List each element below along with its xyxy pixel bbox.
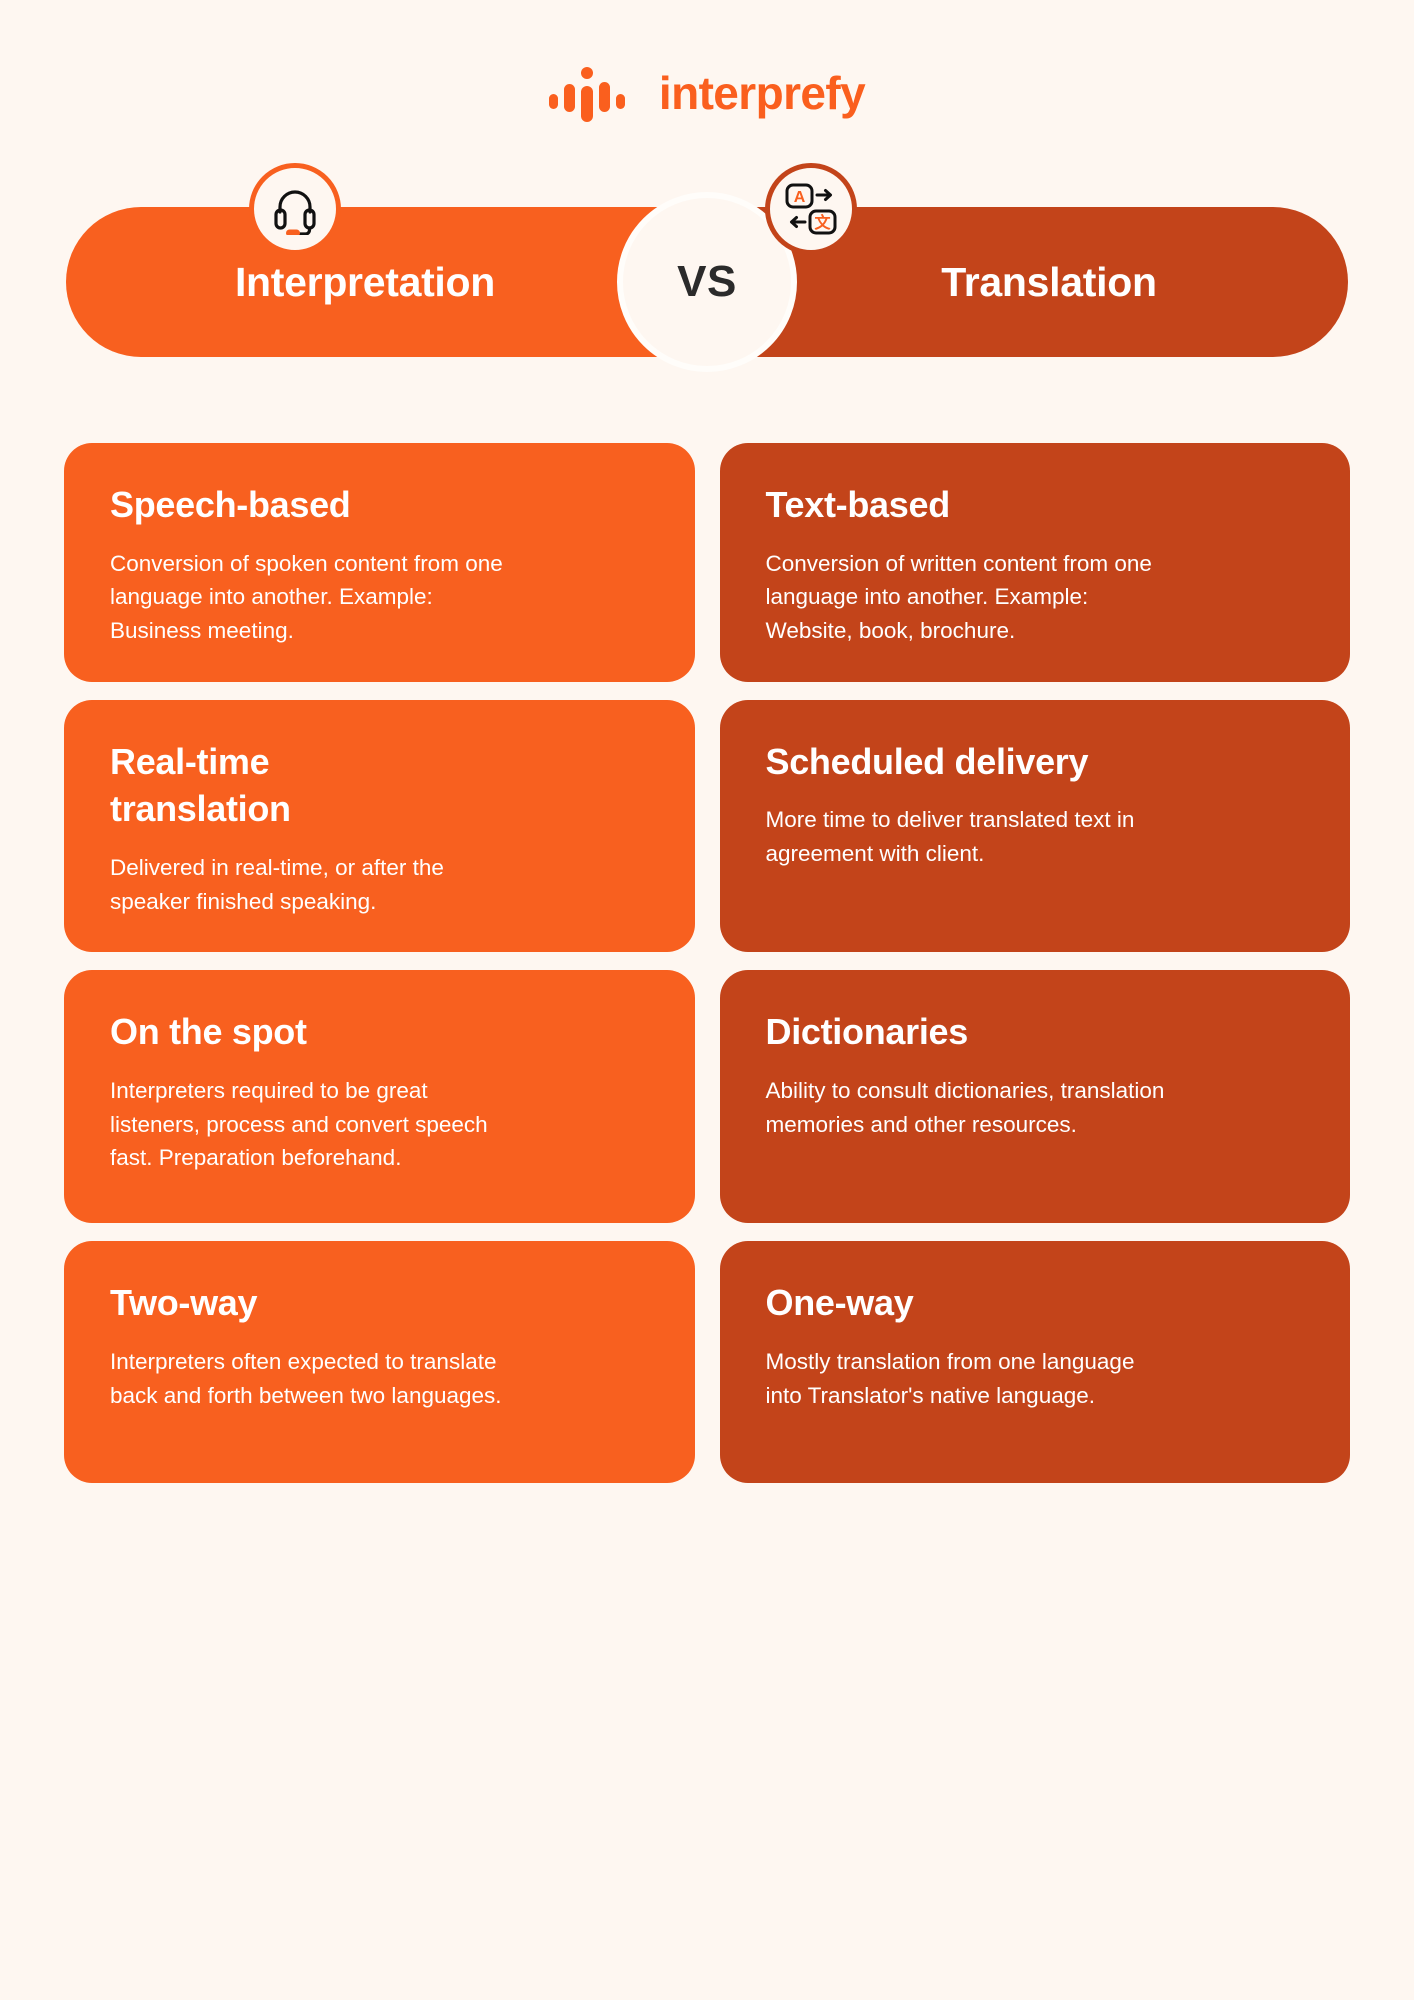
card-translation-dictionaries: Dictionaries Ability to consult dictiona… xyxy=(720,970,1351,1223)
svg-text:文: 文 xyxy=(814,213,831,232)
card-interpretation-real-time: Real-time translation Delivered in real-… xyxy=(64,700,695,953)
svg-text:A: A xyxy=(794,189,806,206)
card-title: Real-time translation xyxy=(110,738,440,833)
card-translation-one-way: One-way Mostly translation from one lang… xyxy=(720,1241,1351,1483)
translation-icon-badge: A 文 xyxy=(765,163,857,255)
comparison-row: Speech-based Conversion of spoken conten… xyxy=(64,443,1350,682)
card-body: Interpreters required to be great listen… xyxy=(110,1074,510,1175)
headset-icon xyxy=(269,183,321,235)
card-body: Conversion of spoken content from one la… xyxy=(110,547,510,648)
brand-logo: interprefy xyxy=(0,64,1414,122)
card-interpretation-on-the-spot: On the spot Interpreters required to be … xyxy=(64,970,695,1223)
card-body: Delivered in real-time, or after the spe… xyxy=(110,851,510,919)
language-translate-icon: A 文 xyxy=(784,182,838,236)
card-translation-text-based: Text-based Conversion of written content… xyxy=(720,443,1351,682)
card-title: Text-based xyxy=(766,481,1096,529)
header-interpretation-title: Interpretation xyxy=(235,259,495,306)
card-body: Interpreters often expected to translate… xyxy=(110,1345,510,1413)
card-body: More time to deliver translated text in … xyxy=(766,803,1166,871)
comparison-row: On the spot Interpreters required to be … xyxy=(64,970,1350,1223)
audio-waveform-icon xyxy=(549,64,643,122)
card-interpretation-speech-based: Speech-based Conversion of spoken conten… xyxy=(64,443,695,682)
comparison-row: Two-way Interpreters often expected to t… xyxy=(64,1241,1350,1483)
card-title: Two-way xyxy=(110,1279,440,1327)
vs-label: VS xyxy=(677,257,737,307)
card-translation-scheduled: Scheduled delivery More time to deliver … xyxy=(720,700,1351,953)
comparison-row: Real-time translation Delivered in real-… xyxy=(64,700,1350,953)
card-title: One-way xyxy=(766,1279,1096,1327)
interpretation-icon-badge xyxy=(249,163,341,255)
card-title: Scheduled delivery xyxy=(766,738,1096,786)
card-body: Ability to consult dictionaries, transla… xyxy=(766,1074,1166,1142)
infographic-page: interprefy Interpretation Translation VS… xyxy=(0,0,1414,2000)
card-body: Conversion of written content from one l… xyxy=(766,547,1166,648)
card-interpretation-two-way: Two-way Interpreters often expected to t… xyxy=(64,1241,695,1483)
card-title: Speech-based xyxy=(110,481,440,529)
card-title: Dictionaries xyxy=(766,1008,1096,1056)
header-translation-title: Translation xyxy=(941,259,1156,306)
card-body: Mostly translation from one language int… xyxy=(766,1345,1166,1413)
comparison-grid: Speech-based Conversion of spoken conten… xyxy=(64,443,1350,1483)
brand-name: interprefy xyxy=(659,70,865,116)
card-title: On the spot xyxy=(110,1008,440,1056)
